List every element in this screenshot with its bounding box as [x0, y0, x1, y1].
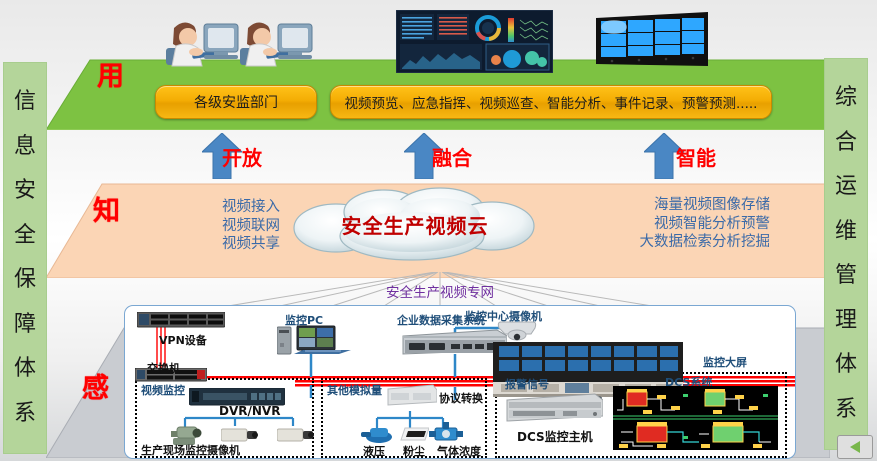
group-analog-title: 其他模拟量: [327, 382, 382, 398]
operators-illustration: [148, 8, 338, 68]
switch-device-label: 交换机: [147, 360, 180, 376]
box-safety-departments[interactable]: 各级安监部门: [155, 85, 317, 119]
sensor-dust-label: 粉尘: [403, 443, 425, 459]
cloud-left-capabilities: 视频接入 视频联网 视频共享: [150, 198, 280, 254]
left-banner-char-7: 系: [14, 403, 36, 425]
dcs-hmi-screenshot: [613, 386, 778, 450]
vpn-device-image: [137, 312, 225, 328]
arrow-open-label: 开放: [222, 148, 262, 168]
corner-tab-triangle-icon: [850, 441, 860, 453]
group-video-monitor-caption: 生产现场监控摄像机: [141, 442, 240, 458]
video-wall-photo: [592, 8, 712, 72]
sensor-dust-image: [397, 424, 429, 444]
right-banner-char-6: 体: [835, 354, 857, 376]
sensor-hydraulic-image: [361, 424, 395, 444]
dcs-host-image: [503, 390, 603, 424]
box-camera-2-image: [277, 426, 315, 444]
left-banner-char-1: 息: [14, 136, 36, 158]
protocol-converter-image: [385, 384, 437, 406]
layer-tag-sense: 感: [82, 375, 109, 402]
corner-tab-icon[interactable]: [837, 435, 873, 459]
left-banner-char-3: 全: [14, 225, 36, 247]
right-banner-char-4: 管: [835, 265, 857, 287]
group-video-monitor-title: 视频监控: [141, 382, 185, 398]
vpn-device-label: VPN设备: [159, 332, 207, 348]
left-banner-information-security: 信 息 安 全 保 障 体 系: [3, 62, 47, 454]
dashboard-screenshot: [396, 10, 553, 73]
sensor-gas-image: [429, 422, 463, 444]
data-collect-image: [397, 328, 507, 356]
monitor-pc-image: [277, 325, 351, 356]
sensor-gas-label: 气体浓度: [437, 443, 481, 459]
right-banner-char-3: 维: [835, 221, 857, 243]
diagram-canvas: 信 息 安 全 保 障 体 系 综 合 运 维 管 理 体 系: [0, 0, 877, 461]
private-network-label: 安全生产视频专网: [220, 281, 660, 301]
left-banner-char-6: 体: [14, 358, 36, 380]
center-camera-image: [497, 320, 537, 342]
right-banner-operations-management: 综 合 运 维 管 理 体 系: [824, 58, 868, 450]
left-banner-char-5: 障: [14, 314, 36, 336]
dvr-nvr-label: DVR/NVR: [219, 404, 280, 418]
sensor-hydraulic-label: 液压: [363, 443, 385, 459]
arrow-intelligent-label: 智能: [676, 148, 716, 168]
box-platform-functions[interactable]: 视频预览、应急指挥、视频巡查、智能分析、事件记录、预警预测.....: [330, 85, 772, 119]
network-topology-panel: VPN设备 交换机 监控PC: [124, 305, 796, 459]
right-banner-char-7: 系: [835, 399, 857, 421]
big-screen-label: 监控大屏: [703, 354, 747, 370]
layer-tag-know: 知: [93, 198, 120, 225]
left-banner-char-4: 保: [14, 269, 36, 291]
right-banner-char-5: 理: [835, 310, 857, 332]
cloud-label: 安全生产视频云: [280, 210, 550, 239]
left-banner-char-0: 信: [14, 91, 36, 113]
left-banner-char-2: 安: [14, 180, 36, 202]
right-banner-char-0: 综: [835, 87, 857, 109]
protocol-converter-label: 协议转换: [439, 390, 483, 406]
right-banner-char-1: 合: [835, 132, 857, 154]
arrow-fusion-label: 融合: [432, 148, 472, 168]
right-banner-char-2: 运: [835, 176, 857, 198]
dcs-host-label: DCS监控主机: [517, 428, 593, 445]
layer-tag-use: 用: [97, 63, 124, 90]
cloud-right-capabilities: 海量视频图像存储 视频智能分析预警 大数据检索分析挖掘: [555, 196, 770, 252]
